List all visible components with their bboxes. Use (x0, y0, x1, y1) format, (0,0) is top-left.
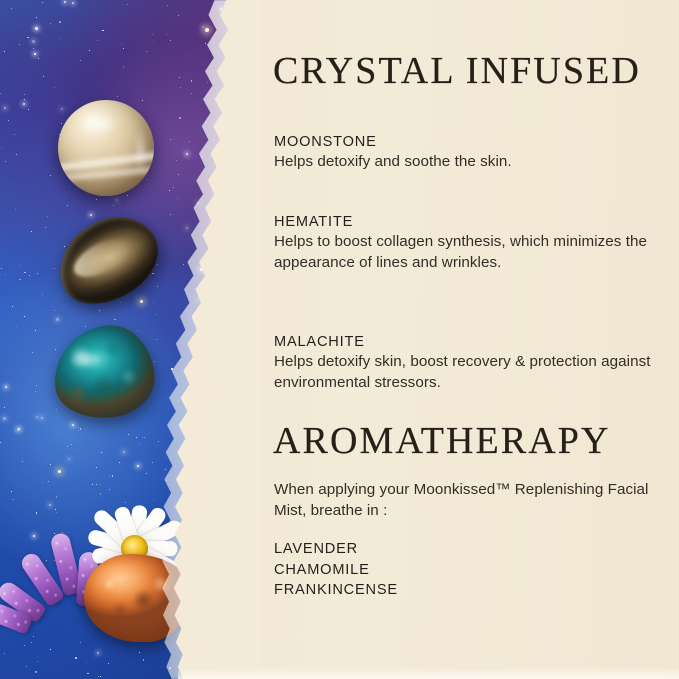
crystal-infused-heading: CRYSTAL INFUSED (273, 49, 641, 93)
panel-content: CRYSTAL INFUSED MOONSTONE Helps detoxify… (273, 0, 665, 679)
product-info-panel: CRYSTAL INFUSED MOONSTONE Helps detoxify… (0, 0, 679, 679)
moonstone-body (58, 100, 154, 196)
ingredient-description-moonstone: Helps detoxify and soothe the skin. (274, 152, 654, 173)
ingredient-block-moonstone: MOONSTONE Helps detoxify and soothe the … (274, 134, 654, 173)
malachite-mottling (49, 321, 158, 423)
ingredient-term-malachite: MALACHITE (274, 334, 654, 350)
ingredient-block-hematite: HEMATITE Helps to boost collagen synthes… (274, 214, 654, 273)
malachite-body (49, 321, 158, 423)
malachite-stone-image (54, 326, 154, 418)
oil-item-frankincense: FRANKINCENSE (274, 581, 654, 601)
oil-item-chamomile: CHAMOMILE (274, 561, 654, 581)
moonstone-highlight (79, 112, 117, 137)
hematite-stone-image (56, 221, 160, 299)
moonstone-sphere-image (58, 100, 154, 196)
aromatherapy-intro-block: When applying your Moonkissed™ Replenish… (274, 480, 654, 521)
ingredient-term-moonstone: MOONSTONE (274, 134, 654, 150)
ingredient-term-hematite: HEMATITE (274, 214, 654, 230)
oil-item-lavender: LAVENDER (274, 540, 654, 560)
aromatherapy-heading: AROMATHERAPY (273, 419, 611, 463)
ingredient-description-malachite: Helps detoxify skin, boost recovery & pr… (274, 352, 654, 393)
ingredient-block-malachite: MALACHITE Helps detoxify skin, boost rec… (274, 334, 654, 393)
aromatherapy-intro-text: When applying your Moonkissed™ Replenish… (274, 480, 654, 521)
aromatherapy-oils-list: LAVENDER CHAMOMILE FRANKINCENSE (274, 540, 654, 602)
ingredient-description-hematite: Helps to boost collagen synthesis, which… (274, 232, 654, 273)
